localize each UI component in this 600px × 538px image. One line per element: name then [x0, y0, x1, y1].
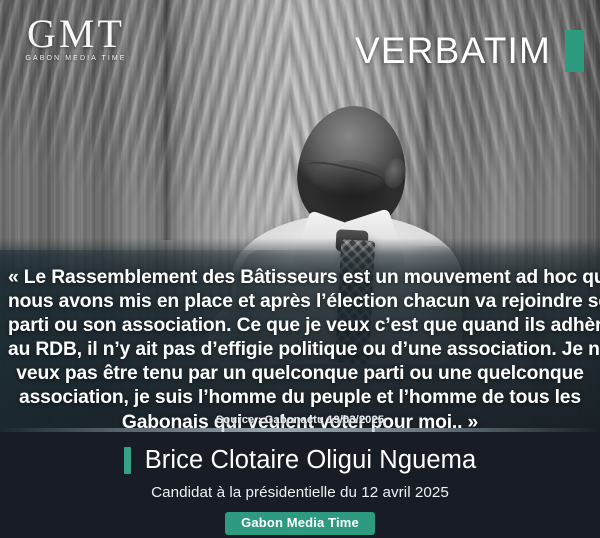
brand-badge[interactable]: Gabon Media Time [225, 512, 375, 535]
quote-source: Source : Gabonactu 19/03/2025 [0, 414, 600, 426]
speaker-role: Candidat à la présidentielle du 12 avril… [0, 484, 600, 501]
accent-bar-icon [124, 447, 131, 474]
quote-line: au RDB, il n’y ait pas d’effigie politiq… [8, 338, 592, 362]
brand-badge-wrap: Gabon Media Time [0, 512, 600, 535]
footer-panel: Brice Clotaire Oligui Nguema Candidat à … [0, 432, 600, 538]
quote-line: « Le Rassemblement des Bâtisseurs est un… [8, 266, 592, 290]
section-label-group: VERBATIM [355, 30, 584, 72]
verbatim-quote-card: GMT GABON MEDIA TIME VERBATIM « Le Rasse… [0, 0, 600, 538]
quote-line: association, je suis l’homme du peuple e… [8, 386, 592, 410]
speaker-name: Brice Clotaire Oligui Nguema [145, 446, 477, 474]
logo-wordmark: GMT [18, 14, 134, 54]
quote-line: parti ou son association. Ce que je veux… [8, 314, 592, 338]
quote-line: nous avons mis en place et après l’élect… [8, 290, 592, 314]
speaker-name-row: Brice Clotaire Oligui Nguema [0, 446, 600, 474]
section-label: VERBATIM [355, 32, 551, 70]
quote-text: « Le Rassemblement des Bâtisseurs est un… [8, 266, 592, 435]
quote-line: veux pas être tenu par un quelconque par… [8, 362, 592, 386]
accent-block-icon [565, 30, 584, 72]
gmt-logo[interactable]: GMT GABON MEDIA TIME [18, 14, 134, 62]
logo-tagline: GABON MEDIA TIME [18, 55, 134, 62]
